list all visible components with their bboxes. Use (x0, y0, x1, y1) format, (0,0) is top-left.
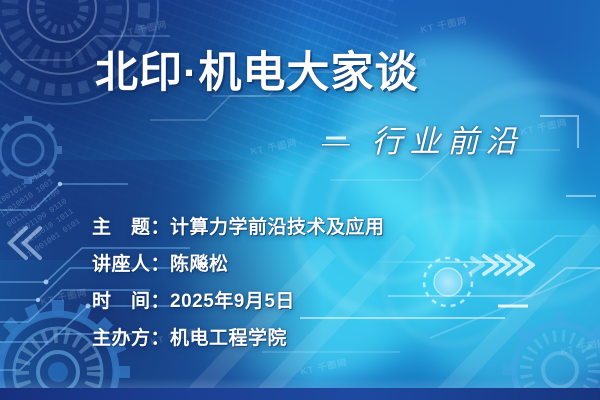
poster-info-block: 主 题：计算力学前沿技术及应用 讲座人：陈飚松 时 间：2025年9月5日 主办… (92, 209, 385, 357)
info-line-organizer: 主办方：机电工程学院 (92, 320, 385, 357)
info-line-topic: 主 题：计算力学前沿技术及应用 (92, 209, 385, 246)
info-line-datetime: 时 间：2025年9月5日 (92, 283, 385, 320)
text-layer: 北印·机电大家谈 — 行业前沿 主 题：计算力学前沿技术及应用 讲座人：陈飚松 … (0, 0, 600, 400)
poster-subtitle: — 行业前沿 (322, 124, 523, 160)
poster-canvas: 01001011 0110 11010010 1001 00110101 110… (0, 0, 600, 400)
poster-title: 北印·机电大家谈 (95, 52, 418, 95)
info-line-speaker: 讲座人：陈飚松 (92, 246, 385, 283)
